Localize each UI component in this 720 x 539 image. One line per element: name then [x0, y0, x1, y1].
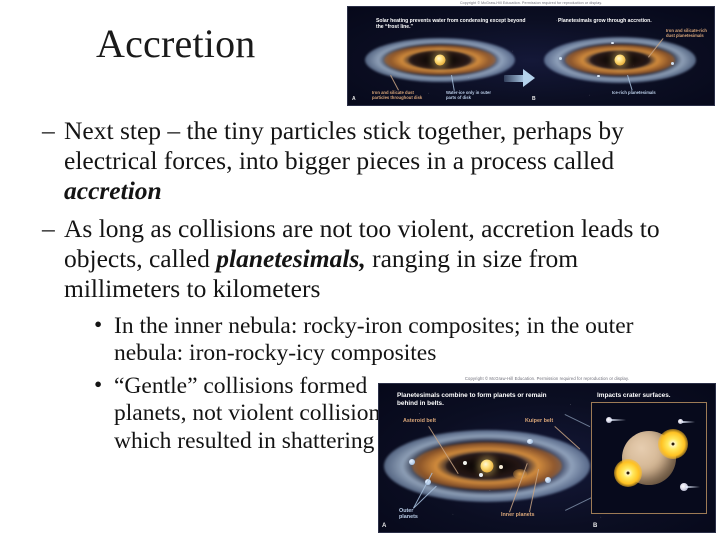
incoming-comet-icon — [606, 417, 612, 423]
inner-planet-dot — [499, 465, 503, 469]
outer-planet-dot — [527, 439, 533, 444]
label-inner-planets: Inner planets — [501, 512, 535, 518]
bullet-2-emphasis: planetesimals, — [216, 244, 365, 273]
panel-b-label-dust-planetesimals: Iron and silicate-rich dust planetesimal… — [666, 28, 715, 38]
impact-flash-icon — [614, 459, 642, 487]
protoplanetary-disk-b-graphic — [545, 37, 695, 83]
bottom-panel-b-heading: Impacts crater surfaces. — [597, 392, 709, 400]
panel-b-id: B — [532, 96, 536, 102]
dash-bullet-icon: – — [42, 116, 55, 146]
sub-bullet-2-text: “Gentle” collisions formed planets, not … — [114, 373, 389, 454]
page-title: Accretion — [96, 22, 256, 66]
figure-top-panel: Solar heating prevents water from conden… — [347, 6, 715, 106]
bullet-item-1: –Next step – the tiny particles stick to… — [36, 116, 696, 205]
slide: Accretion –Next step – the tiny particle… — [0, 0, 720, 539]
sub-bullet-item-1: •In the inner nebula: rocky-iron composi… — [88, 313, 696, 368]
panel-a-heading: Solar heating prevents water from conden… — [376, 18, 526, 30]
bottom-panel-b-id: B — [593, 523, 597, 530]
panel-a-label-waterice: Water-ice only in outer parts of disk — [446, 90, 494, 100]
bullet-item-2: –As long as collisions are not too viole… — [36, 214, 696, 303]
figure-bottom-copyright: Copyright © McGraw-Hill Education. Permi… — [378, 375, 716, 383]
impact-flash-icon — [658, 429, 688, 459]
round-bullet-icon: • — [94, 372, 102, 399]
outer-planet-dot — [409, 459, 415, 465]
panel-a-label-dust: Iron and silicate dust particles through… — [372, 90, 428, 100]
protoplanetary-disk-a-graphic — [365, 37, 515, 83]
label-kuiper-belt: Kuiper belt — [525, 418, 553, 424]
bottom-panel-a-id: A — [382, 523, 386, 530]
sub-bullet-1-text: In the inner nebula: rocky-iron composit… — [114, 313, 633, 366]
label-outer-planets: Outer planets — [399, 508, 429, 521]
solar-system-disk-graphic — [387, 431, 587, 501]
inner-planet-dot — [463, 461, 467, 465]
figure-bottom-panel: Planetesimals combine to form planets or… — [378, 383, 716, 533]
figure-accretion-stages: Copyright © McGraw-Hill Education. Permi… — [347, 0, 715, 112]
panel-b-heading: Planetesimals grow through accretion. — [558, 18, 668, 24]
bottom-panel-a-heading: Planetesimals combine to form planets or… — [397, 392, 555, 407]
incoming-comet-icon — [678, 419, 683, 424]
panel-b-label-ice-planetesimals: Ice-rich planetesimals — [612, 90, 658, 95]
dash-bullet-icon: – — [42, 214, 55, 244]
round-bullet-icon: • — [94, 312, 102, 339]
bullet-1-emphasis: accretion — [64, 176, 162, 205]
impact-cratering-inset — [591, 402, 707, 514]
figure-planetesimal-combination: Copyright © McGraw-Hill Education. Permi… — [378, 375, 716, 539]
outer-planet-dot — [545, 477, 551, 483]
inner-planet-dot — [479, 473, 483, 477]
incoming-comet-icon — [680, 483, 688, 491]
bullet-1-text-a: Next step – the tiny particles stick tog… — [64, 116, 624, 175]
label-asteroid-belt: Asteroid belt — [403, 418, 436, 424]
panel-a-id: A — [352, 96, 356, 102]
